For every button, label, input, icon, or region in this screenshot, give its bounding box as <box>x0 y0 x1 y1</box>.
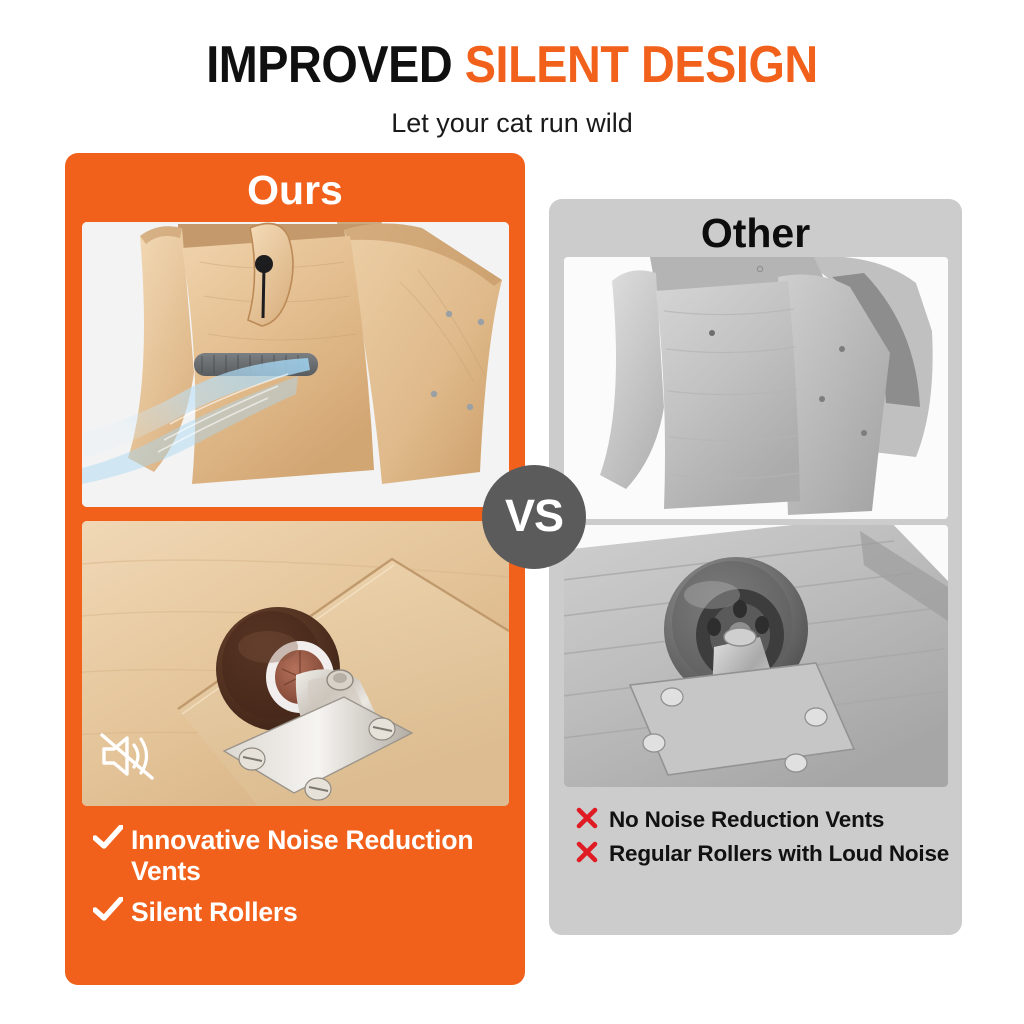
photo-ours-roller <box>82 521 509 806</box>
panel-ours-title: Ours <box>65 166 525 214</box>
page-subtitle: Let your cat run wild <box>0 106 1024 140</box>
features-other: No Noise Reduction Vents Regular Rollers… <box>575 806 955 874</box>
check-icon <box>93 897 131 923</box>
panel-other: Other <box>549 199 962 935</box>
feature-label: Regular Rollers with Loud Noise <box>609 840 949 867</box>
airflow-illustration <box>82 222 509 507</box>
feature-item: No Noise Reduction Vents <box>575 806 955 833</box>
vs-badge: VS <box>482 465 586 569</box>
features-ours: Innovative Noise Reduction Vents Silent … <box>93 825 513 928</box>
photo-other-base <box>564 257 948 519</box>
feature-label: Innovative Noise Reduction Vents <box>131 825 513 887</box>
feature-label: No Noise Reduction Vents <box>609 806 884 833</box>
vs-label: VS <box>505 490 563 542</box>
feature-item: Silent Rollers <box>93 897 513 928</box>
feature-item: Regular Rollers with Loud Noise <box>575 840 955 867</box>
feature-item: Innovative Noise Reduction Vents <box>93 825 513 887</box>
mute-speaker-icon <box>100 731 156 786</box>
panel-other-title: Other <box>549 209 962 257</box>
page-title-part-2: SILENT DESIGN <box>465 36 818 94</box>
photo-ours-airflow <box>82 222 509 507</box>
feature-label: Silent Rollers <box>131 897 298 928</box>
cross-icon <box>575 806 609 830</box>
cross-icon <box>575 840 609 864</box>
page-title: IMPROVED SILENT DESIGN <box>51 36 973 94</box>
gray-base-illustration <box>564 257 948 519</box>
page-title-part-1: IMPROVED <box>206 36 465 94</box>
infographic-page: IMPROVED SILENT DESIGN Let your cat run … <box>0 0 1024 1024</box>
panel-ours: Ours <box>65 153 525 985</box>
regular-roller-illustration <box>564 525 948 787</box>
photo-other-roller <box>564 525 948 787</box>
check-icon <box>93 825 131 851</box>
